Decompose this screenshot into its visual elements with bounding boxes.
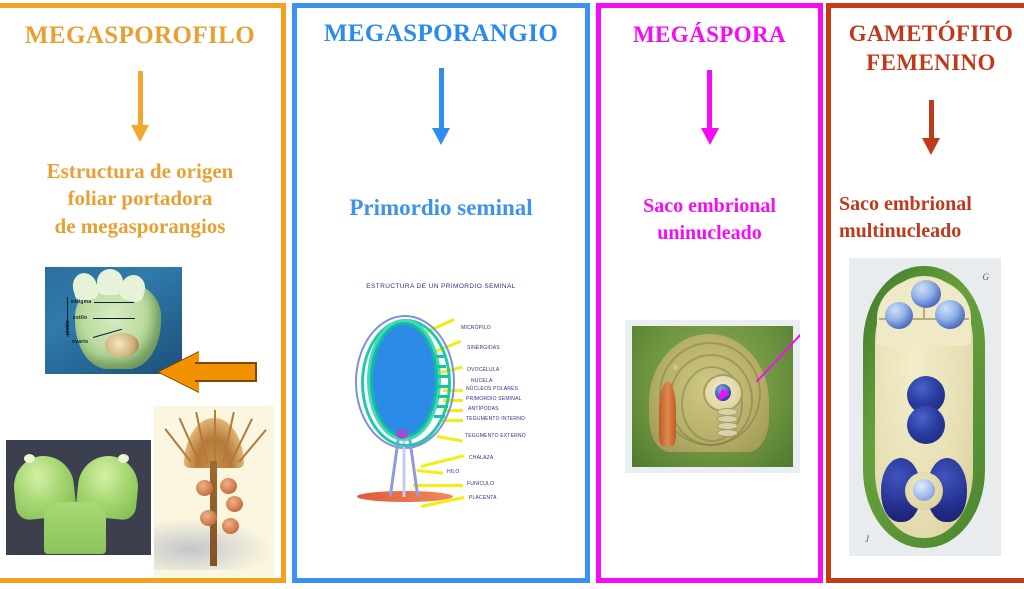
botanical-plate-image [154,406,274,583]
down-arrow-icon [922,100,940,155]
label-funiculo: FUNÍCULO [467,481,494,487]
panel-3-subtitle: Saco embrional uninucleado [601,193,818,247]
panel-4-title: GAMETÓFITO FEMENINO [831,20,1024,78]
carpel-photo [6,440,151,555]
label-antipodas: ANTÍPODAS [468,406,499,412]
subtitle-line: uninucleado [601,220,818,247]
down-arrow-icon [701,70,719,145]
uninucleate-embryo-sac-photo [625,320,800,473]
figure-board: MEGASPOROFILO Estructura de origen folia… [0,0,1024,589]
ovule-diagram: ESTRUCTURA DE UN PRIMORDIO SEMINAL MICRÓ… [321,283,561,548]
label-chalaza: CHALAZA [469,455,493,461]
multinucleate-embryo-sac-model: G J [849,258,1001,556]
panel-1-subtitle: Estructura de origen foliar portadora de… [0,158,281,240]
image-tag-j: J [865,534,869,544]
label-tegumento-interno: TEGUMENTO INTERNO [466,416,525,422]
subtitle-line: foliar portadora [0,185,281,212]
label-nucleos-polares: NÚCLEOS POLARES [466,386,518,392]
panel-4-subtitle: Saco embrional multinucleado [839,191,1024,245]
subtitle-line: Estructura de origen [0,158,281,185]
orange-pointer-arrow-icon [159,352,257,392]
photo-label-estigma: estigma [71,299,91,305]
title-line: GAMETÓFITO [831,20,1024,49]
down-arrow-icon [131,71,149,142]
image-tag-g: G [983,272,990,282]
diagram-caption: ESTRUCTURA DE UN PRIMORDIO SEMINAL [321,283,561,290]
subtitle-line: Saco embrional [601,193,818,220]
panel-1-title: MEGASPOROFILO [0,22,281,50]
panel-gametofito-femenino: GAMETÓFITO FEMENINO Saco embrional multi… [826,3,1024,583]
title-line: FEMENINO [831,49,1024,78]
panel-3-title: MEGÁSPORA [601,22,818,48]
panel-2-title: MEGASPORANGIO [297,20,585,48]
subtitle-line: Saco embrional [839,191,1024,218]
label-hilo: HILO [447,469,459,475]
panel-megaspora: MEGÁSPORA Saco embrional uninucleado [596,3,823,583]
magenta-pointer-arrow-icon [717,344,787,406]
label-sinergidas: SINÉRGIDAS [467,345,500,351]
label-micropilo: MICRÓPILO [461,325,491,331]
down-arrow-icon [432,68,450,145]
label-ovocelula: OVOCÉLULA [467,367,499,373]
panel-megasporangio: MEGASPORANGIO Primordio seminal ESTRUCTU… [292,3,590,583]
label-primordio-seminal: PRIMORDIO SEMINAL [466,396,522,402]
label-placenta: PLACENTA [469,495,497,501]
subtitle-line: multinucleado [839,218,1024,245]
egg-apparatus [881,454,967,528]
subtitle-line: de megasporangios [0,213,281,240]
photo-label-ovario: ovario [72,339,88,345]
panel-megasporofilo: MEGASPOROFILO Estructura de origen folia… [0,3,286,583]
label-tegumento-externo: TEGUMENTO EXTERNO [465,433,526,439]
label-nucela: NUCELA [471,378,492,384]
panel-2-subtitle: Primordio seminal [297,193,585,223]
photo-label-estilo: estilo [73,315,87,321]
photo-label-pistilo: pistilo [65,320,71,335]
